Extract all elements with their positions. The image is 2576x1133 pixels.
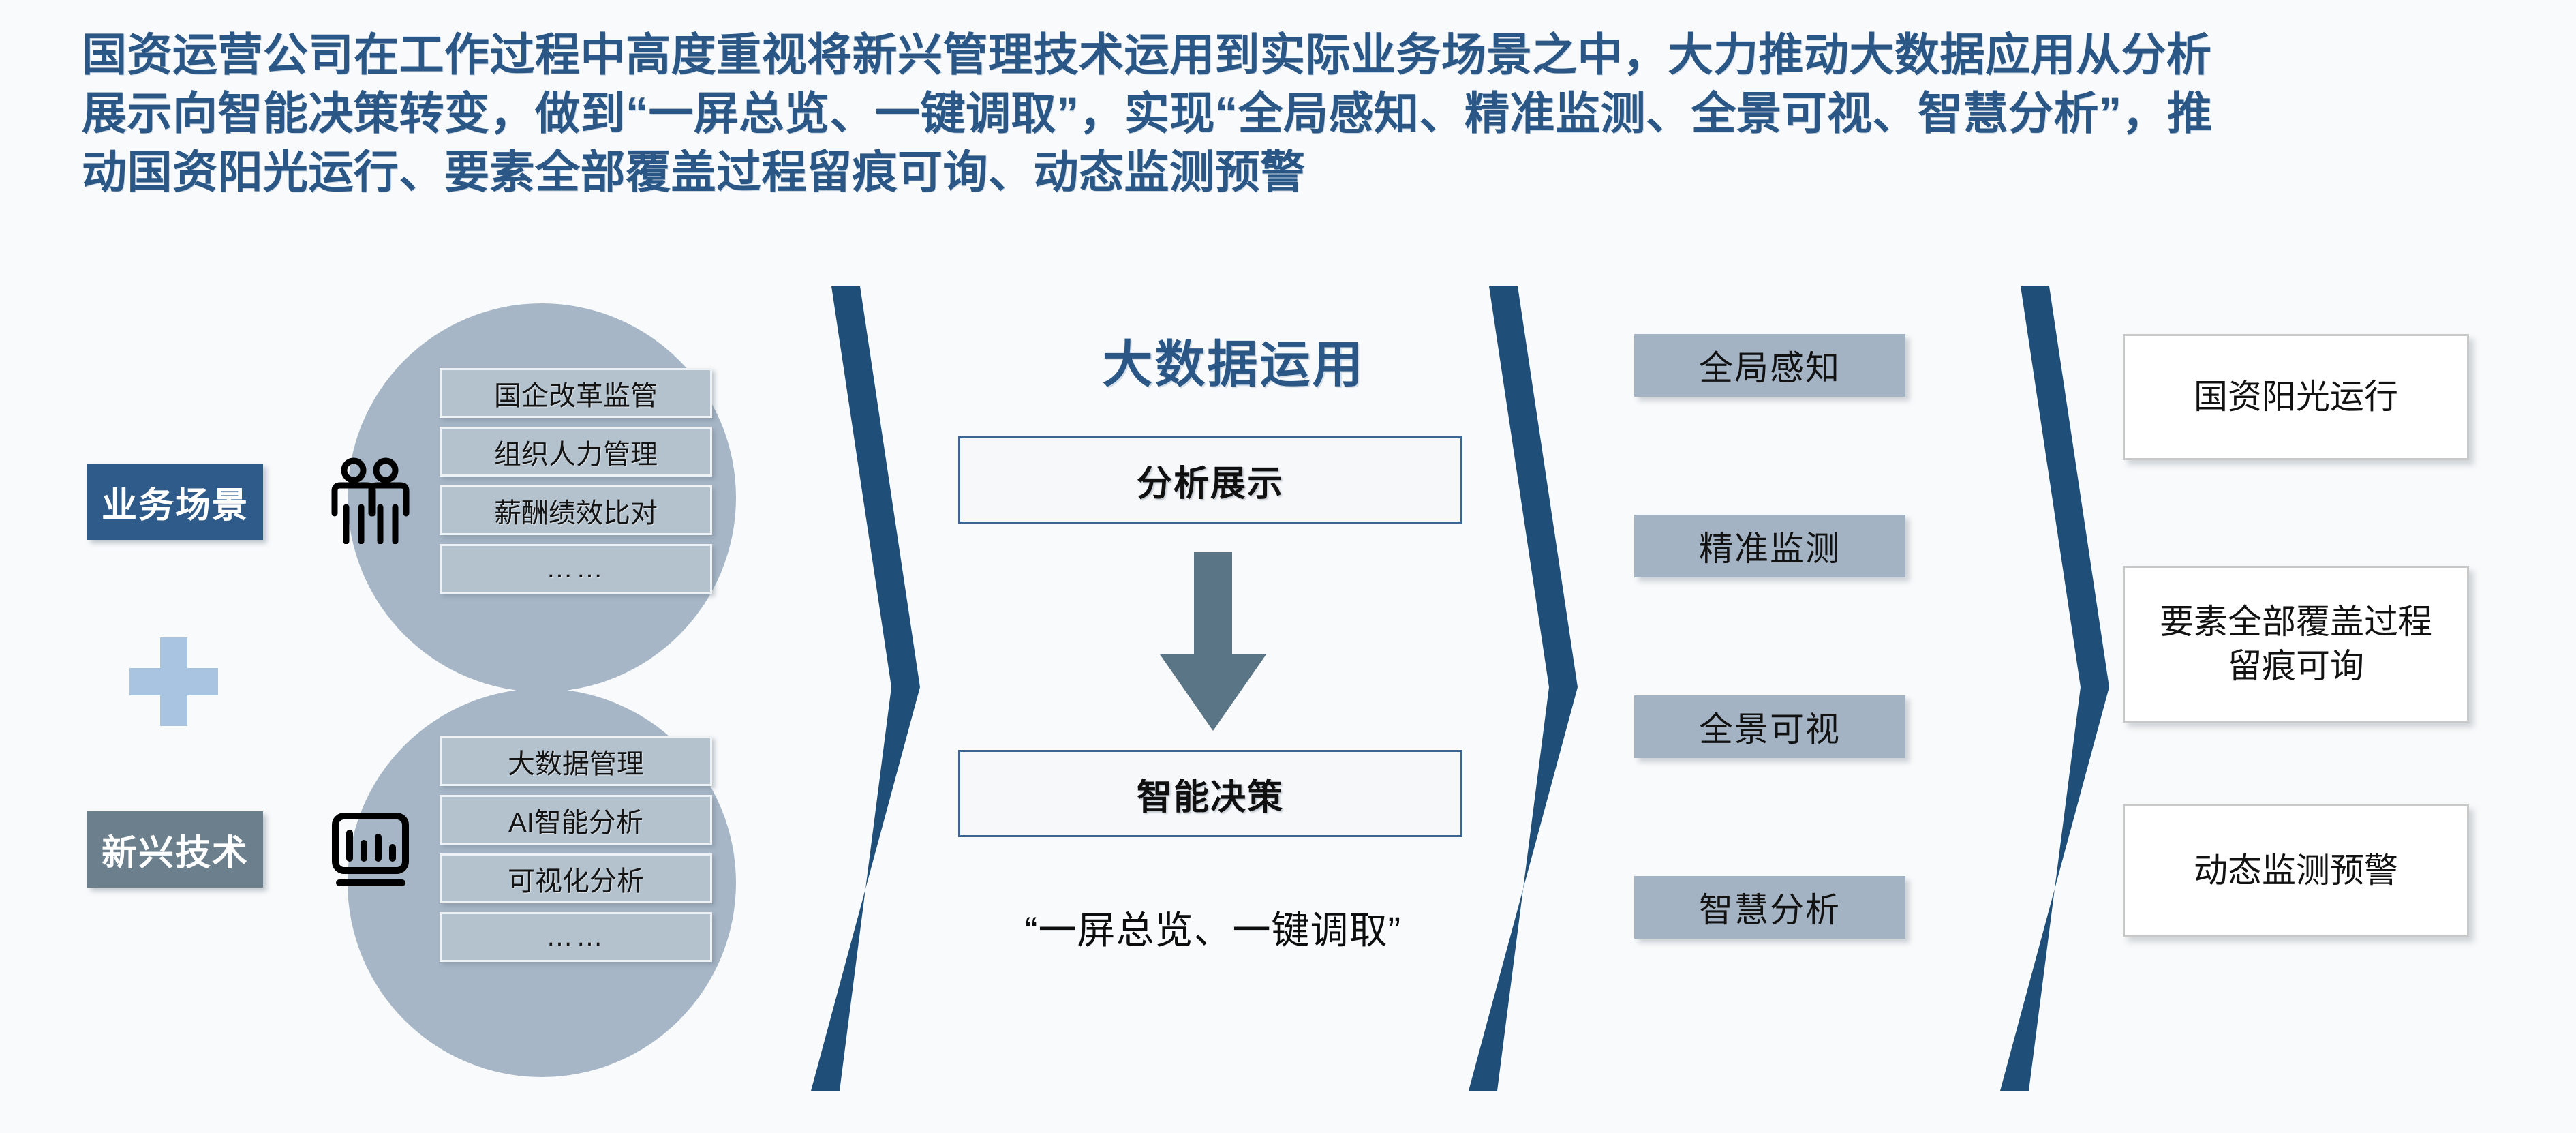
bigdata-section-title: 大数据运用 bbox=[1002, 324, 1465, 397]
list-item[interactable]: …… bbox=[440, 544, 712, 594]
plus-icon bbox=[129, 637, 218, 726]
emerging-tech-item-list: 大数据管理 AI智能分析 可视化分析 …… bbox=[440, 736, 712, 962]
list-item[interactable]: 国企改革监管 bbox=[440, 368, 712, 418]
capability-box[interactable]: 全局感知 bbox=[1634, 334, 1905, 397]
category-badge-tech[interactable]: 新兴技术 bbox=[87, 811, 263, 888]
outcome-box[interactable]: 国资阳光运行 bbox=[2123, 334, 2469, 460]
page-title: 国资运营公司在工作过程中高度重视将新兴管理技术运用到实际业务场景之中，大力推动大… bbox=[82, 26, 2508, 201]
chevron-right-separator-icon bbox=[811, 286, 954, 1091]
bigdata-quote: “一屏总览、一键调取” bbox=[934, 900, 1492, 955]
header-line-3: 动国资阳光运行、要素全部覆盖过程留痕可询、动态监测预警 bbox=[82, 143, 2508, 202]
chevron-right-separator-icon bbox=[1469, 286, 1612, 1091]
list-item[interactable]: AI智能分析 bbox=[440, 795, 712, 845]
list-item[interactable]: …… bbox=[440, 912, 712, 962]
capability-box[interactable]: 精准监测 bbox=[1634, 515, 1905, 577]
list-item[interactable]: 可视化分析 bbox=[440, 853, 712, 903]
bar-chart-monitor-icon bbox=[331, 808, 413, 896]
people-icon bbox=[331, 455, 413, 544]
capability-box[interactable]: 全景可视 bbox=[1634, 695, 1905, 758]
chevron-right-separator-icon bbox=[2000, 286, 2143, 1091]
capability-box[interactable]: 智慧分析 bbox=[1634, 876, 1905, 939]
category-badge-business[interactable]: 业务场景 bbox=[87, 464, 263, 540]
flow-box-decision[interactable]: 智能决策 bbox=[958, 750, 1462, 837]
list-item[interactable]: 大数据管理 bbox=[440, 736, 712, 786]
header-line-2: 展示向智能决策转变，做到“一屏总览、一键调取”，实现“全局感知、精准监测、全景可… bbox=[82, 85, 2508, 143]
list-item[interactable]: 薪酬绩效比对 bbox=[440, 485, 712, 535]
list-item[interactable]: 组织人力管理 bbox=[440, 427, 712, 477]
outcome-box[interactable]: 动态监测预警 bbox=[2123, 804, 2469, 937]
down-arrow-icon bbox=[1159, 552, 1268, 733]
slide-canvas: 国资运营公司在工作过程中高度重视将新兴管理技术运用到实际业务场景之中，大力推动大… bbox=[0, 0, 2576, 1133]
flow-box-analysis[interactable]: 分析展示 bbox=[958, 436, 1462, 524]
outcome-box[interactable]: 要素全部覆盖过程留痕可询 bbox=[2123, 566, 2469, 723]
plus-icon-vertical-bar bbox=[160, 637, 187, 726]
business-scene-item-list: 国企改革监管 组织人力管理 薪酬绩效比对 …… bbox=[440, 368, 712, 594]
header-line-1: 国资运营公司在工作过程中高度重视将新兴管理技术运用到实际业务场景之中，大力推动大… bbox=[82, 26, 2508, 85]
